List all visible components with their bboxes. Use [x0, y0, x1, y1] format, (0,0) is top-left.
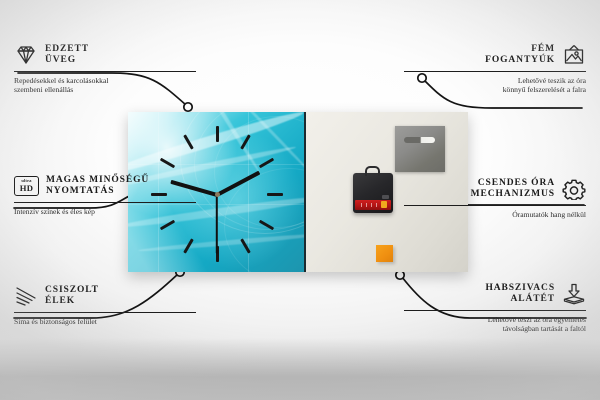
feature-subtitle: Sima és biztonságos felület: [14, 317, 196, 327]
feature-foam-backing: HABSZIVACS ALÁTÉT Lehetővé teszi az óra …: [404, 281, 586, 334]
feature-title: FÉM FOGANTYÚK: [485, 44, 555, 67]
feature-polished-edges: CSISZOLT ÉLEK Sima és biztonságos felüle…: [14, 283, 196, 326]
battery-tick: [366, 203, 367, 207]
divider: [14, 202, 196, 203]
feature-subtitle: Repedésekkel és karcolásokkal szembeni e…: [14, 76, 196, 95]
second-hand: [216, 194, 218, 254]
wall-frame-icon: [562, 44, 586, 66]
divider: [404, 71, 586, 72]
feature-subtitle: Lehetővé teszik az óra könnyű felszerelé…: [404, 76, 586, 95]
battery-tick: [361, 203, 362, 207]
metal-hanger-plate: [395, 126, 445, 172]
hour-marker: [267, 193, 283, 196]
feature-header: FÉM FOGANTYÚK: [404, 42, 586, 68]
feature-header: HABSZIVACS ALÁTÉT: [404, 281, 586, 307]
foam-pad-icon: [562, 283, 586, 305]
feature-header: ultra HD MAGAS MINŐSÉGŰ NYOMTATÁS: [14, 173, 196, 199]
ultra-hd-big-label: HD: [20, 184, 34, 193]
feature-silent-mechanism: CSENDES ÓRA MECHANIZMUS Óramutatók hang …: [404, 176, 586, 219]
feature-subtitle: Óramutatók hang nélkül: [404, 210, 586, 220]
gear-icon: [562, 178, 586, 200]
panel-seam: [128, 164, 304, 165]
feature-metal-handles: FÉM FOGANTYÚK Lehetővé teszik az óra kön…: [404, 42, 586, 95]
battery: [355, 200, 391, 210]
feature-header: EDZETT ÜVEG: [14, 42, 196, 68]
feature-title: CSISZOLT ÉLEK: [45, 285, 99, 308]
anchor-tempered-glass: [184, 103, 192, 111]
feature-title: CSENDES ÓRA MECHANIZMUS: [471, 178, 555, 201]
diamond-icon: [14, 44, 38, 66]
mechanism-dial: [382, 195, 389, 199]
foam-pad: [376, 245, 393, 262]
feature-high-quality-print: ultra HD MAGAS MINŐSÉGŰ NYOMTATÁS Intenz…: [14, 173, 196, 216]
divider: [14, 71, 196, 72]
feature-title: MAGAS MINŐSÉGŰ NYOMTATÁS: [46, 175, 149, 198]
feature-title: EDZETT ÜVEG: [45, 44, 89, 67]
clock-mechanism: [353, 173, 393, 213]
ultra-hd-icon: ultra HD: [14, 176, 39, 196]
feature-header: CSENDES ÓRA MECHANIZMUS: [404, 176, 586, 202]
hour-marker: [216, 126, 219, 142]
divider: [404, 310, 586, 311]
battery-tick: [376, 203, 377, 207]
divider: [404, 205, 586, 206]
infographic-canvas: EDZETT ÜVEG Repedésekkel és karcolásokka…: [0, 0, 600, 400]
clock-pivot: [215, 192, 220, 197]
feature-subtitle: Intenzív színek és éles kép: [14, 207, 196, 217]
feature-header: CSISZOLT ÉLEK: [14, 283, 196, 309]
hanger-slot: [404, 137, 435, 143]
feature-title: HABSZIVACS ALÁTÉT: [485, 283, 555, 306]
feature-subtitle: Lehetővé teszi az óra egyenletes távolsá…: [404, 315, 586, 334]
battery-tick: [371, 203, 372, 207]
divider: [14, 312, 196, 313]
anchor-foam-backing: [396, 271, 404, 279]
polished-edges-icon: [14, 285, 38, 307]
feature-tempered-glass: EDZETT ÜVEG Repedésekkel és karcolásokka…: [14, 42, 196, 95]
mechanism-loop: [365, 166, 380, 176]
battery-plus-terminal: [381, 201, 387, 208]
